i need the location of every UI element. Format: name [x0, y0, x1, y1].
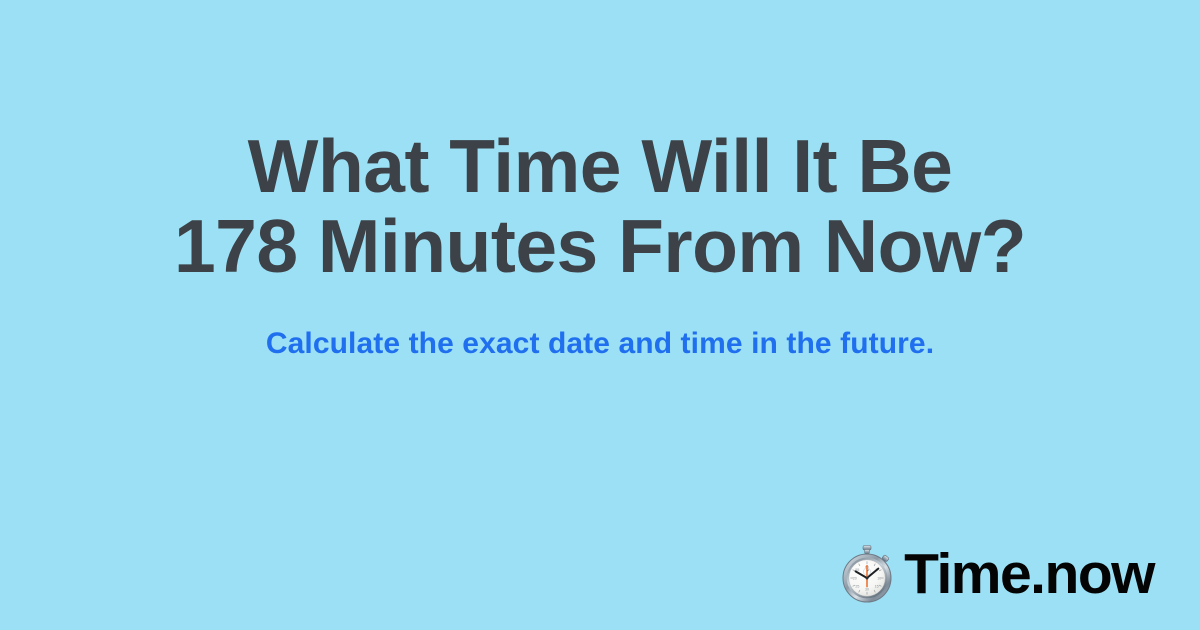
brand-name: Time.now [904, 544, 1154, 604]
page-title-line-1: What Time Will It Be [0, 126, 1200, 206]
og-card: What Time Will It Be 178 Minutes From No… [0, 0, 1200, 630]
svg-text:15: 15 [875, 585, 879, 589]
page-title-line-2: 178 Minutes From Now? [0, 206, 1200, 286]
page-subtitle: Calculate the exact date and time in the… [0, 326, 1200, 362]
svg-text:10: 10 [877, 576, 881, 580]
svg-text:25: 25 [856, 585, 860, 589]
brand-logo[interactable]: 60 5 10 15 30 25 20 55 Time.now [838, 544, 1154, 604]
stopwatch-icon: 60 5 10 15 30 25 20 55 [838, 544, 896, 604]
svg-text:20: 20 [853, 576, 857, 580]
page-title: What Time Will It Be 178 Minutes From No… [0, 126, 1200, 286]
svg-text:30: 30 [865, 587, 869, 591]
